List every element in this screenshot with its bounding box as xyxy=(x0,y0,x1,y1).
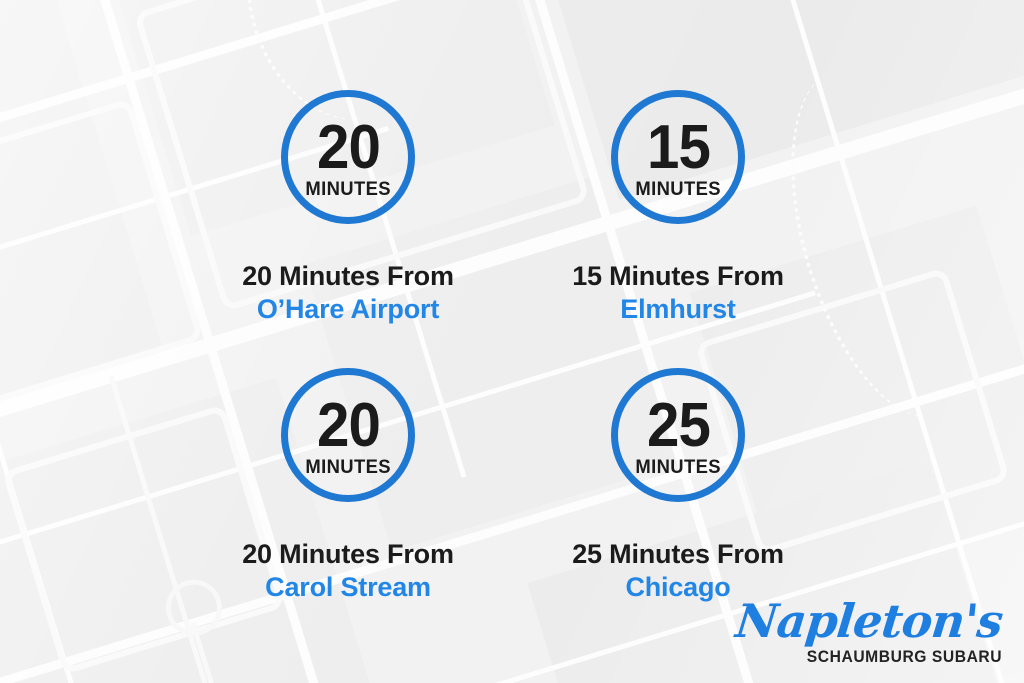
badge-number: 25 xyxy=(647,395,710,457)
content-grid: 20 MINUTES 20 Minutes From O’Hare Airpor… xyxy=(0,0,1024,683)
caption-duration: 25 Minutes From xyxy=(508,538,848,571)
drive-time-card: 20 MINUTES 20 Minutes From Carol Stream xyxy=(178,368,518,604)
badge-unit-label: MINUTES xyxy=(305,180,391,199)
badge-unit-label: MINUTES xyxy=(635,458,721,477)
caption-duration: 20 Minutes From xyxy=(178,260,518,293)
badge-unit-label: MINUTES xyxy=(635,180,721,199)
logo-brand-subtitle: SCHAUMBURG SUBARU xyxy=(757,648,1002,665)
badge-number: 20 xyxy=(317,395,380,457)
minutes-badge: 15 MINUTES xyxy=(611,90,745,224)
minutes-badge: 20 MINUTES xyxy=(281,90,415,224)
card-caption: 15 Minutes From Elmhurst xyxy=(508,260,848,326)
badge-number: 20 xyxy=(317,117,380,179)
badge-unit-label: MINUTES xyxy=(305,458,391,477)
minutes-badge: 20 MINUTES xyxy=(281,368,415,502)
minutes-badge: 25 MINUTES xyxy=(611,368,745,502)
drive-time-card: 25 MINUTES 25 Minutes From Chicago xyxy=(508,368,848,604)
card-caption: 20 Minutes From Carol Stream xyxy=(178,538,518,604)
caption-location: O’Hare Airport xyxy=(178,293,518,326)
badge-number: 15 xyxy=(647,117,710,179)
caption-location: Elmhurst xyxy=(508,293,848,326)
caption-location: Carol Stream xyxy=(178,571,518,604)
promo-graphic: 20 MINUTES 20 Minutes From O’Hare Airpor… xyxy=(0,0,1024,683)
logo-brand-script: Napleton's xyxy=(733,598,1004,644)
drive-time-card: 20 MINUTES 20 Minutes From O’Hare Airpor… xyxy=(178,90,518,326)
card-caption: 20 Minutes From O’Hare Airport xyxy=(178,260,518,326)
caption-duration: 20 Minutes From xyxy=(178,538,518,571)
caption-duration: 15 Minutes From xyxy=(508,260,848,293)
drive-time-card: 15 MINUTES 15 Minutes From Elmhurst xyxy=(508,90,848,326)
dealer-logo[interactable]: Napleton's SCHAUMBURG SUBARU xyxy=(736,598,1002,665)
